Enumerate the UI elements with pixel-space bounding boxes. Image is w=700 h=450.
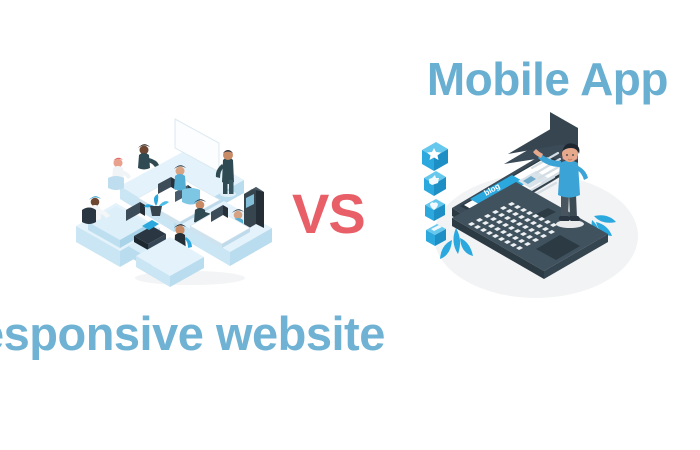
water-cooler [244,187,264,231]
person-seated-b [138,144,159,169]
office-illustration [72,106,282,291]
thumbs-up-badge [424,171,446,196]
watermark-remnant [158,408,218,430]
page-title-mobile-app: Mobile App [427,56,668,102]
laptop-illustration: blog [408,106,648,301]
person-leg-left [561,194,569,219]
comparison-graphic: Mobile App esponsive website VS [0,0,700,450]
person-leg-right [569,194,577,219]
page-title-responsive-website: esponsive website [0,310,385,357]
versus-label: VS [292,186,365,242]
person-shirt [558,161,580,198]
star-badge [422,142,448,171]
